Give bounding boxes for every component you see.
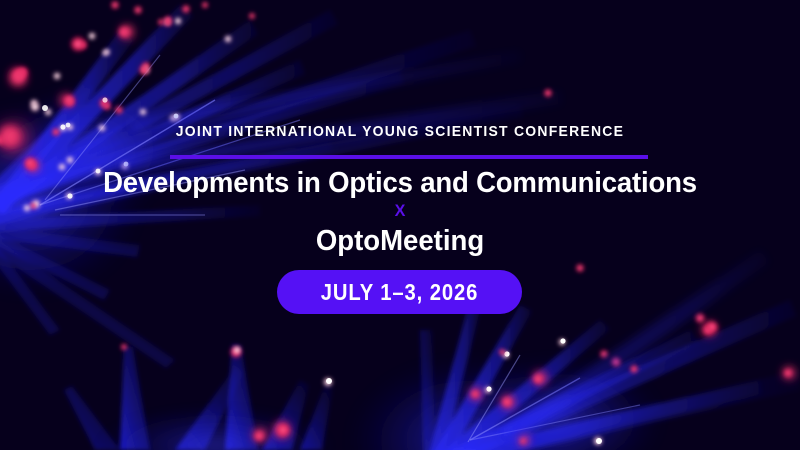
accent-divider (170, 155, 648, 159)
eyebrow-text: JOINT INTERNATIONAL YOUNG SCIENTIST CONF… (28, 122, 772, 142)
conference-poster: JOINT INTERNATIONAL YOUNG SCIENTIST CONF… (0, 0, 800, 450)
page-title: Developments in Optics and Communication… (20, 166, 780, 200)
page-subtitle: OptoMeeting (20, 224, 780, 258)
title-separator: X (20, 200, 780, 222)
date-badge-label: JULY 1–3, 2026 (321, 280, 479, 304)
date-badge: JULY 1–3, 2026 (277, 270, 522, 314)
